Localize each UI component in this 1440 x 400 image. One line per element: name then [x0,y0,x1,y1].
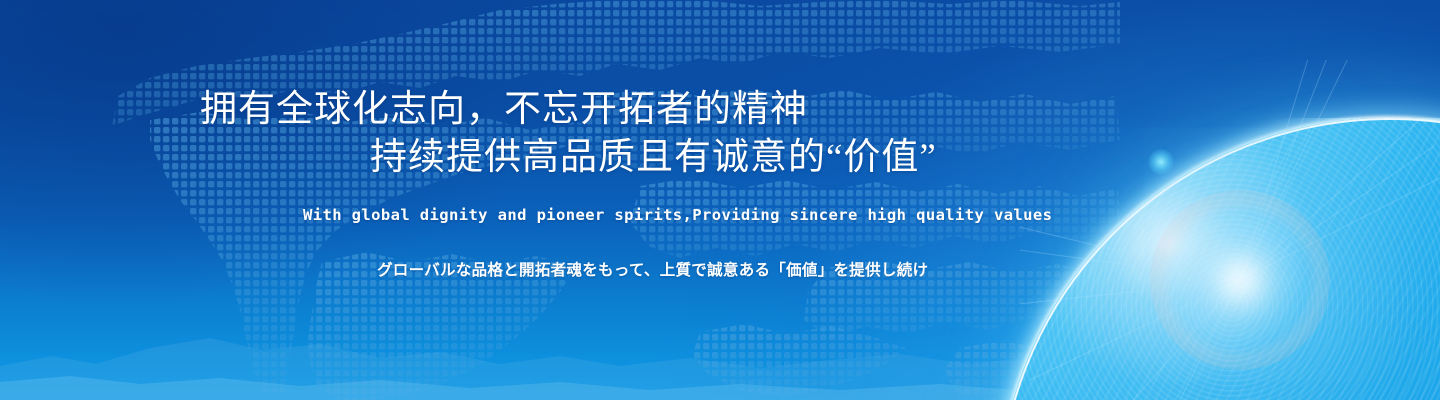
hero-banner: 拥有全球化志向，不忘开拓者的精神 持续提供高品质且有诚意的“价值” With g… [0,0,1440,400]
subtitle-japanese: グローバルな品格と開拓者魂をもって、上質で誠意ある「価値」を提供し続け [377,258,928,280]
headline: 拥有全球化志向，不忘开拓者的精神 持续提供高品质且有诚意的“价值” [200,86,937,182]
headline-line-1: 拥有全球化志向，不忘开拓者的精神 [200,86,937,134]
subtitle-english: With global dignity and pioneer spirits,… [303,206,1052,224]
banner-text-block: 拥有全球化志向，不忘开拓者的精神 持续提供高品质且有诚意的“价值” With g… [0,0,1440,400]
headline-line-2: 持续提供高品质且有诚意的“价值” [200,134,937,182]
